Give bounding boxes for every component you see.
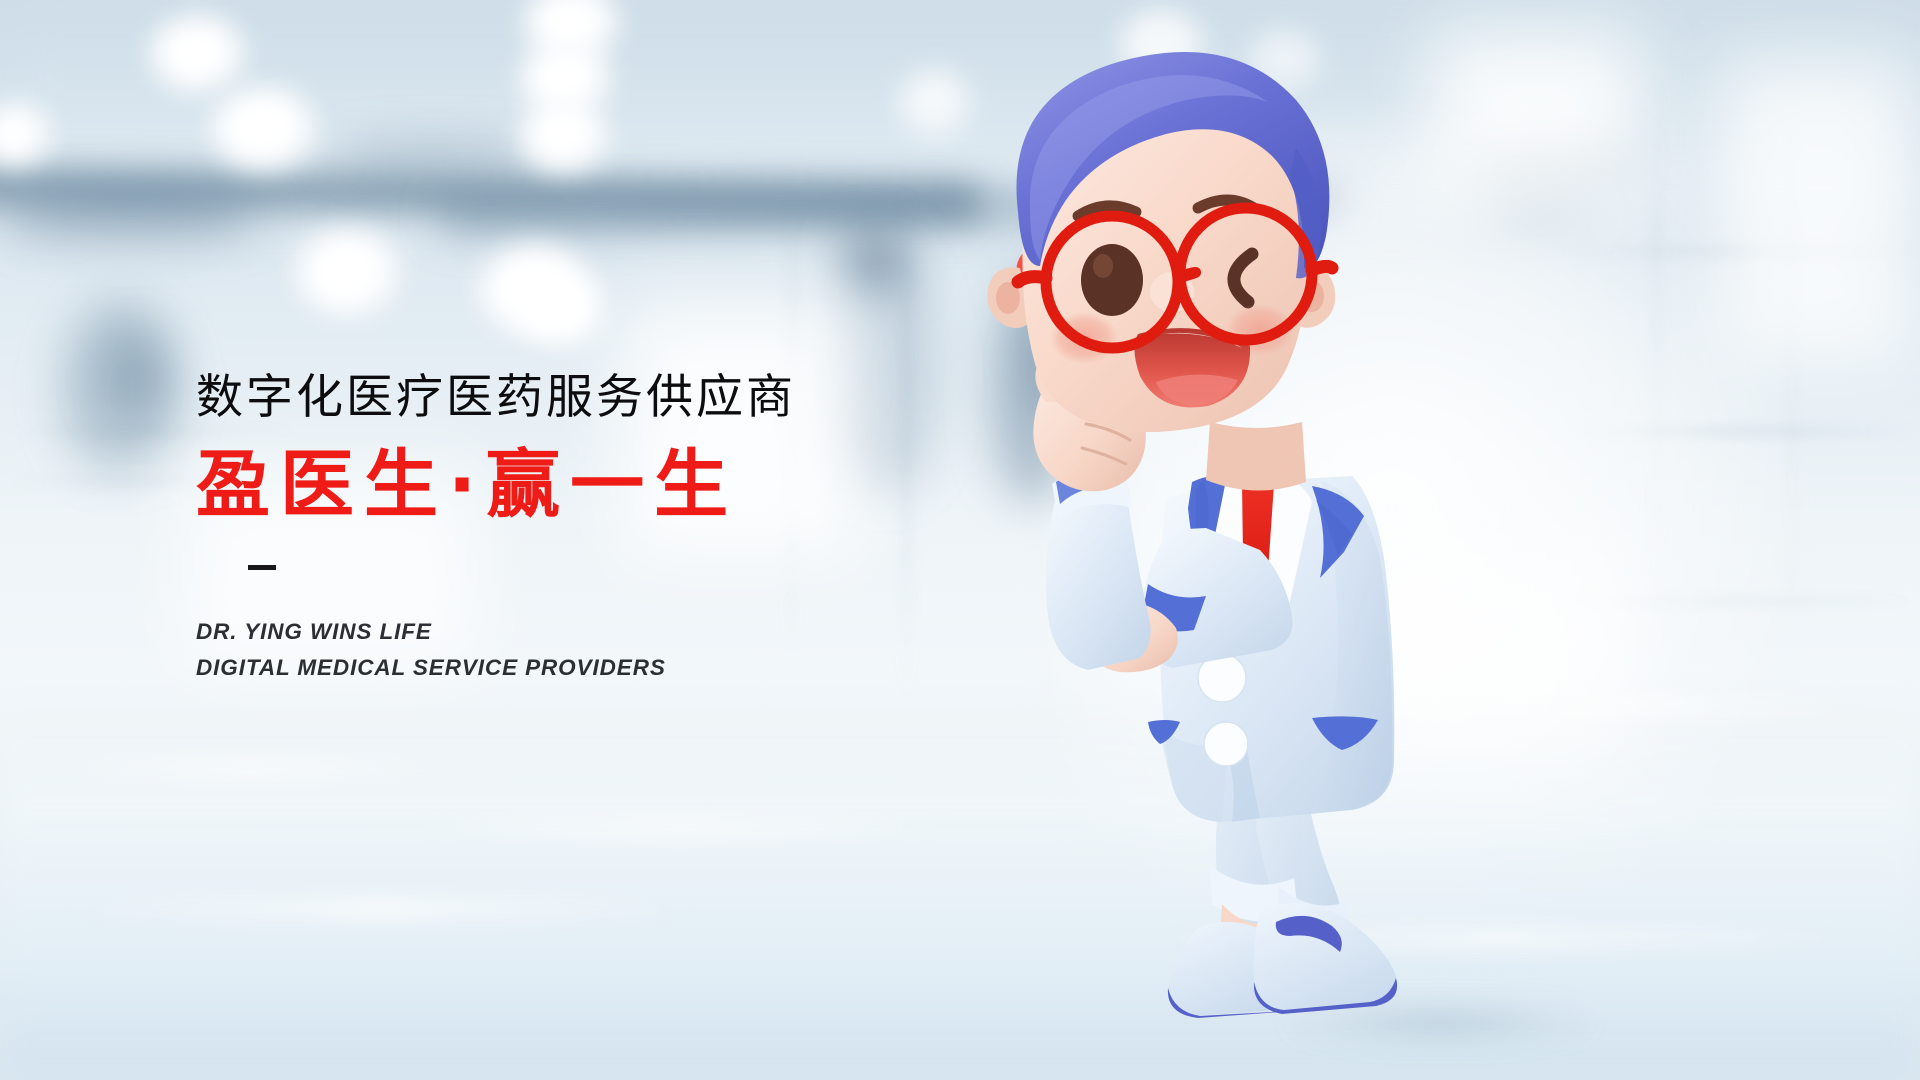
floor-streak-2 [420, 820, 940, 834]
subtitle-en-line-2: DIGITAL MEDICAL SERVICE PROVIDERS [196, 650, 956, 686]
blurred-ceiling-fixture [330, 140, 540, 174]
ceiling-light-4 [524, 0, 620, 60]
eye-open [1081, 244, 1143, 316]
subtitle-en-block: DR. YING WINS LIFE DIGITAL MEDICAL SERVI… [196, 614, 956, 687]
mascot-neck [1206, 422, 1306, 491]
ceiling-light-3 [0, 104, 50, 166]
blurred-beam-edge [0, 190, 260, 240]
ceiling-light-2 [212, 88, 316, 170]
blurred-figure-left [60, 300, 180, 470]
page-subtitle-cn: 数字化医疗医药服务供应商 [196, 372, 956, 424]
ceiling-light-8 [480, 246, 590, 336]
frame-line-4 [1790, 40, 1793, 640]
title-divider [248, 565, 276, 570]
blurred-sign [840, 230, 910, 290]
ceiling-light-9 [520, 272, 604, 346]
hero-copy: 数字化医疗医药服务供应商 盈医生·赢一生 DR. YING WINS LIFE … [196, 372, 956, 686]
mascot-head [987, 52, 1335, 432]
subtitle-en-line-1: DR. YING WINS LIFE [196, 614, 956, 650]
mascot-shoes [1168, 903, 1397, 1018]
page-title-slogan: 盈医生·赢一生 [196, 444, 956, 527]
doctor-mascot [960, 30, 1700, 1070]
ceiling-light-6 [520, 100, 608, 172]
mascot-left-arm [1046, 466, 1151, 670]
hero-banner: 数字化医疗医药服务供应商 盈医生·赢一生 DR. YING WINS LIFE … [0, 0, 1920, 1080]
floor-streak-1 [40, 760, 460, 776]
blurred-object-left [100, 330, 170, 420]
ceiling-light-5 [520, 42, 612, 116]
floor-streak-3 [60, 900, 700, 918]
ceiling-light-7 [296, 230, 400, 316]
window-glow-2 [1720, 60, 1910, 360]
ceiling-light-1 [150, 16, 246, 92]
ceiling-beam-left [0, 160, 980, 228]
